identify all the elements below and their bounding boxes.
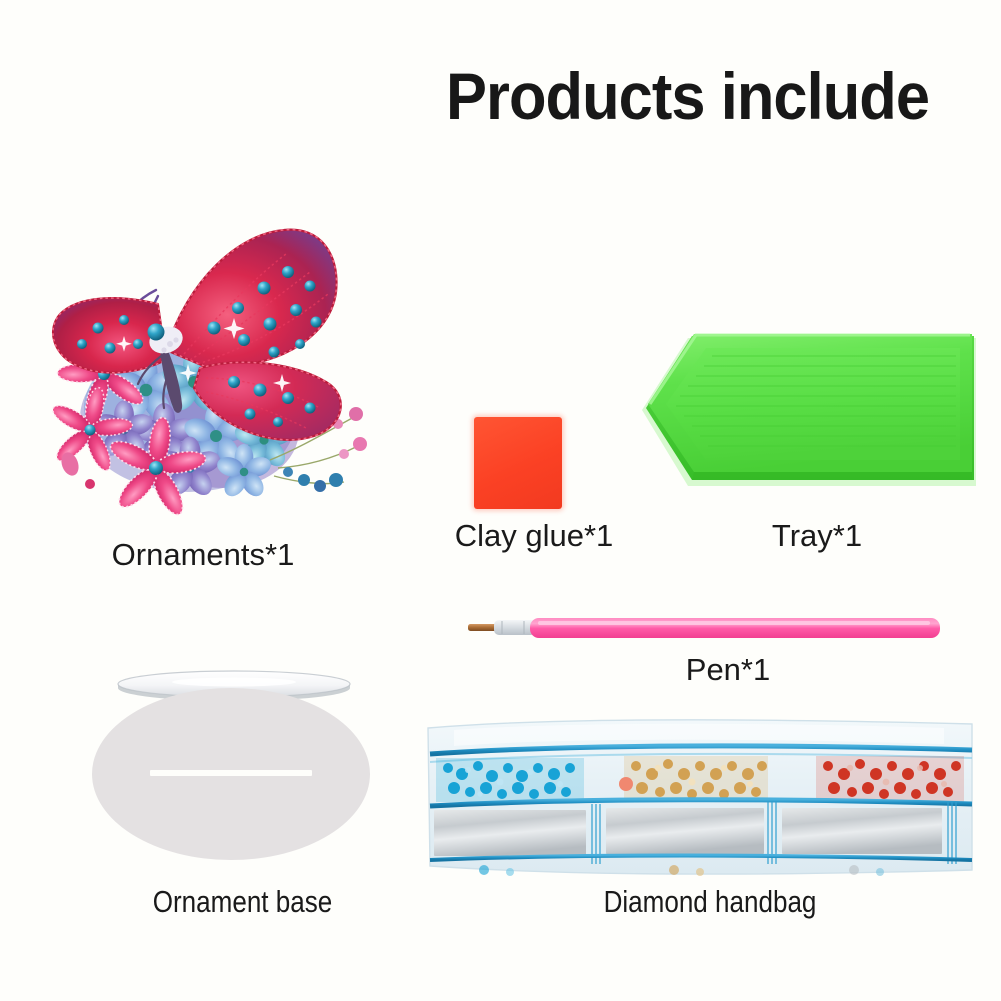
caption-pen: Pen*1 bbox=[612, 652, 844, 688]
caption-diamond-handbag: Diamond handbag bbox=[483, 884, 937, 920]
product-diamond-handbag bbox=[424, 714, 976, 880]
blue-rhinestones bbox=[436, 758, 584, 802]
caption-ornament-base: Ornament base bbox=[72, 884, 412, 920]
diamond-pen-icon bbox=[462, 612, 948, 644]
product-inclusions-infographic: Products include bbox=[0, 0, 1001, 1001]
ornament-base-oval bbox=[92, 688, 370, 860]
product-ornaments: Ornaments*1 bbox=[38, 168, 398, 538]
gold-rhinestones bbox=[619, 756, 768, 802]
diamond-tray-icon bbox=[640, 322, 980, 508]
caption-clay-glue: Clay glue*1 bbox=[390, 518, 678, 554]
caption-tray: Tray*1 bbox=[672, 518, 962, 554]
ornament-base-slot bbox=[150, 770, 312, 776]
page-title: Products include bbox=[446, 58, 929, 134]
clay-glue-block bbox=[474, 417, 562, 509]
foil-packets bbox=[434, 808, 942, 856]
rhinestone-bag-icon bbox=[424, 714, 976, 880]
product-tray bbox=[640, 322, 980, 508]
caption-ornaments: Ornaments*1 bbox=[0, 537, 406, 573]
butterfly-ornament-icon bbox=[38, 168, 398, 518]
red-rhinestones bbox=[816, 756, 964, 802]
product-pen bbox=[462, 612, 948, 644]
bag-compartments bbox=[430, 746, 972, 876]
